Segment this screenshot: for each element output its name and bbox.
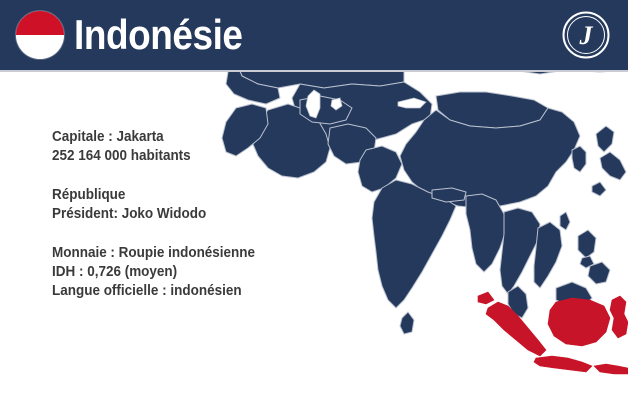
fact-president: Président: Joko Widodo [52,205,255,224]
fact-regime: République [52,186,255,205]
facts-group-capital: Capitale : Jakarta 252 164 000 habitants [52,128,270,166]
journal-j-monogram-icon: J [561,10,611,60]
facts-group-misc: Monnaie : Roupie indonésienne IDH : 0,72… [52,244,270,301]
country-facts-list: Capitale : Jakarta 252 164 000 habitants… [52,128,270,301]
fact-hdi: IDH : 0,726 (moyen) [52,263,255,282]
brand-logo-letter: J [579,21,594,50]
page-title: Indonésie [74,8,243,62]
indonesia-flag-circle-icon [16,11,64,59]
facts-group-government: République Président: Joko Widodo [52,186,270,224]
fact-currency: Monnaie : Roupie indonésienne [52,244,255,263]
flag-white-band [16,35,64,59]
fact-language: Langue officielle : indonésien [52,282,255,301]
country-fact-card: .land { fill:#25395c; stroke:#b9c1cf; st… [0,0,628,418]
header-divider [0,70,628,72]
fact-population: 252 164 000 habitants [52,147,255,166]
fact-capital: Capitale : Jakarta [52,128,255,147]
flag-red-band [16,11,64,35]
country-nepal-bhutan [432,188,466,202]
